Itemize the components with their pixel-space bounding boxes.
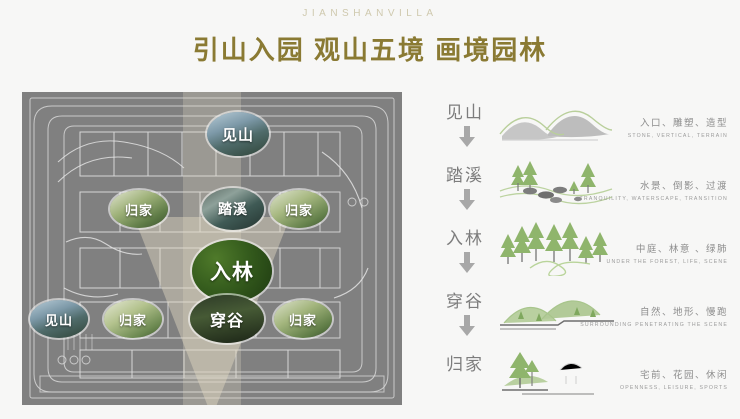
map-bubble-home[interactable]: 归家 [110,190,168,228]
map-bubble-home2[interactable]: 归家 [270,190,328,228]
stage-name: 入林 [446,224,484,249]
map-bubble-forest[interactable]: 入林 [192,240,272,302]
map-bubble-label: 归家 [119,310,147,329]
stage-caption: 水景、倒影、过渡 TRANQUILITY, WATERSCAPE, TRANSI… [580,181,728,202]
caption-cn: 中庭、林意 、绿肺 [607,244,728,256]
map-bubble-water[interactable]: 踏溪 [202,188,264,230]
stage-name: 归家 [446,350,484,375]
home-garden-icon [496,344,616,402]
stage-caption: 入口、雕塑、造型 STONE, VERTICAL, TERRAIN [628,118,728,139]
caption-en: SURROUNDING PENETRATING THE SCENE [580,322,728,328]
page-title: 引山入园 观山五境 画境园林 [0,30,740,67]
map-bubble-mountain[interactable]: 见山 [30,300,88,338]
brand-wordmark: JIANSHANVILLA [0,8,740,19]
five-scenes-panel: 见山 入口、雕塑、造型 STONE, VERTICAL, TERRAIN 踏溪 [418,92,730,407]
stage-caption: 中庭、林意 、绿肺 UNDER THE FOREST, LIFE, SCENE [607,244,728,265]
stage-chuangu[interactable]: 穿谷 自然、地形、慢跑 SURROUNDING PENETRATING THE … [418,281,730,344]
stage-name: 见山 [446,98,484,123]
mountain-range-icon [496,92,616,150]
map-bubble-label: 穿谷 [210,307,244,331]
map-bubble-label: 踏溪 [218,199,248,219]
map-bubble-valley[interactable]: 穿谷 [190,295,264,343]
stage-name: 穿谷 [446,287,484,312]
map-bubble-label: 归家 [289,310,317,329]
stage-taoxi[interactable]: 踏溪 水景、倒影、过渡 [418,155,730,218]
caption-cn: 宅前、花园、休闲 [620,370,728,382]
arrow-down-icon [454,313,480,339]
caption-en: STONE, VERTICAL, TERRAIN [628,133,728,139]
map-bubble-home4[interactable]: 归家 [274,300,332,338]
stage-caption: 宅前、花园、休闲 OPENNESS, LEISURE, SPORTS [620,370,728,391]
caption-cn: 自然、地形、慢跑 [580,307,728,319]
forest-path-icon [496,218,616,276]
caption-cn: 水景、倒影、过渡 [580,181,728,193]
arrow-down-icon [454,250,480,276]
caption-en: UNDER THE FOREST, LIFE, SCENE [607,259,728,265]
caption-en: TRANQUILITY, WATERSCAPE, TRANSITION [580,196,728,202]
caption-en: OPENNESS, LEISURE, SPORTS [620,385,728,391]
map-bubble-label: 归家 [125,200,153,219]
map-bubble-mountain[interactable]: 见山 [207,112,269,156]
arrow-down-icon [454,187,480,213]
stage-caption: 自然、地形、慢跑 SURROUNDING PENETRATING THE SCE… [580,307,728,328]
map-bubble-label: 见山 [45,310,73,329]
map-bubble-home3[interactable]: 归家 [104,300,162,338]
stage-rulin[interactable]: 入林 中庭、林意 、绿肺 UN [418,218,730,281]
arrow-down-icon [454,124,480,150]
stage-guijia[interactable]: 归家 宅前、花园、休闲 OPENNESS, LEISURE, SPO [418,344,730,407]
caption-cn: 入口、雕塑、造型 [628,118,728,130]
stage-name: 踏溪 [446,161,484,186]
map-bubble-label: 见山 [222,124,254,145]
stage-jianshan[interactable]: 见山 入口、雕塑、造型 STONE, VERTICAL, TERRAIN [418,92,730,155]
map-bubble-label: 入林 [210,256,254,286]
map-bubble-label: 归家 [285,200,313,219]
site-plan-map[interactable]: 见山归家踏溪归家入林见山归家穿谷归家 [22,92,402,405]
